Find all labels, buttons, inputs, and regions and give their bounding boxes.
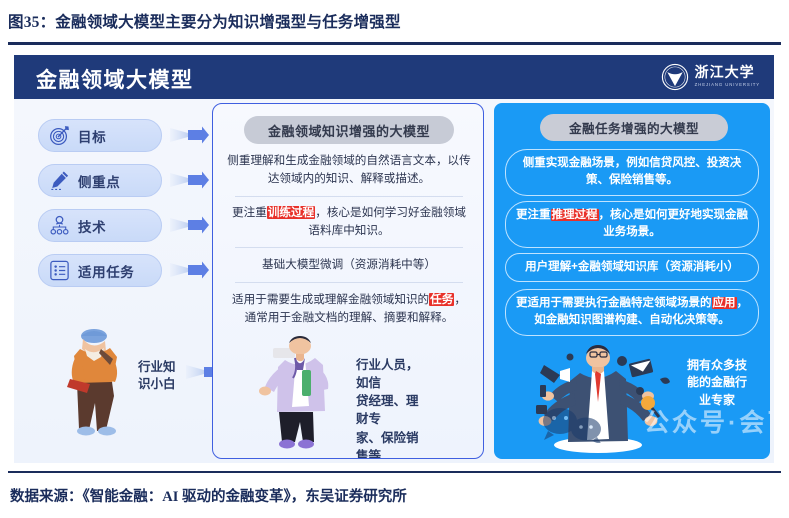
right-persona: 拥有众多技 能的金融行 业专家 (498, 341, 770, 459)
sidebar-item-goal-label: 目标 (78, 126, 106, 146)
right-item-3: 用户理解+金融领域知识库（资源消耗小） (505, 253, 759, 282)
university-logo: 浙江大学 ZHEJIANG UNIVERSITY (661, 61, 760, 93)
figure-caption: 图35：金融领域大模型主要分为知识增强型与任务增强型 (8, 10, 778, 40)
sidebar-item-technology-label: 技术 (78, 216, 106, 236)
wechat-bubbles-icon (540, 403, 610, 443)
zhejiang-university-emblem-icon (661, 63, 689, 91)
middle-column-title: 金融领域知识增强的大模型 (244, 116, 454, 144)
top-rule (8, 42, 781, 45)
sidebar-item-technology[interactable]: 技术 (38, 209, 162, 242)
middle-persona: 行业人员，如信 贷经理、理财专 家、保险销售等 (221, 332, 477, 454)
middle-column: 金融领域知识增强的大模型 侧重理解和生成金融领域的自然语言文本，以传达领域内的知… (212, 103, 484, 459)
middle-persona-label: 行业人员，如信 贷经理、理财专 家、保险销售等 (356, 356, 430, 459)
middle-item-2: 更注重训练过程，核心是如何学习好金融领域语料库中知识。 (227, 204, 471, 240)
logo-chinese-name: 浙江大学 (695, 67, 760, 81)
right-item-1: 侧重实现金融场景，例如信贷风控、投资决策、保险销售等。 (505, 149, 759, 196)
highlight-training-process: 训练过程 (267, 206, 315, 219)
middle-separator (235, 247, 463, 248)
middle-item-3: 基础大模型微调（资源消耗中等） (227, 256, 471, 274)
right-arrow-icon (170, 214, 210, 236)
right-item-4: 更适用于需要执行金融特定领域场景的应用，如金融知识图谱构建、自动化决策等。 (505, 289, 759, 336)
highlight-task: 任务 (429, 293, 454, 306)
finance-professional-illustration-icon (255, 334, 337, 450)
infographic-card: 金融领域大模型 浙江大学 ZHEJIANG UNIVERSITY (14, 55, 774, 463)
sidebar-item-focus-label: 侧重点 (78, 171, 120, 191)
right-column-title: 金融任务增强的大模型 (540, 114, 728, 141)
checklist-icon (48, 259, 71, 282)
content-band: 目标 侧重点 (14, 99, 774, 463)
card-header: 金融领域大模型 浙江大学 ZHEJIANG UNIVERSITY (14, 55, 774, 99)
network-people-icon (48, 214, 71, 237)
right-column: 金融任务增强的大模型 侧重实现金融场景，例如信贷风控、投资决策、保险销售等。 更… (494, 103, 770, 459)
right-item-2: 更注重推理过程，核心是如何更好地实现金融业务场景。 (505, 201, 759, 248)
left-persona-label: 行业知 识小白 (138, 359, 192, 393)
middle-separator (235, 282, 463, 283)
casual-person-illustration-icon (58, 327, 132, 437)
right-arrow-icon (170, 169, 210, 191)
pencil-icon (48, 169, 71, 192)
sidebar-item-focus[interactable]: 侧重点 (38, 164, 162, 197)
sidebar-item-goal[interactable]: 目标 (38, 119, 162, 152)
data-source: 数据来源：《智能金融：AI 驱动的金融变革》，东吴证券研究所 (10, 485, 710, 509)
figure-page: 图35：金融领域大模型主要分为知识增强型与任务增强型 金融领域大模型 浙江大学 … (0, 0, 789, 518)
sidebar-item-tasks-label: 适用任务 (78, 261, 134, 281)
card-title: 金融领域大模型 (36, 64, 194, 94)
middle-item-1: 侧重理解和生成金融领域的自然语言文本，以传达领域内的知识、解释或描述。 (227, 152, 471, 188)
right-arrow-icon (170, 259, 210, 281)
target-icon (48, 124, 71, 147)
sidebar-item-tasks[interactable]: 适用任务 (38, 254, 162, 287)
highlight-reasoning-process: 推理过程 (551, 209, 599, 221)
left-column: 目标 侧重点 (14, 99, 210, 463)
highlight-application: 应用 (712, 297, 737, 309)
logo-english-name: ZHEJIANG UNIVERSITY (695, 83, 760, 87)
middle-item-4: 适用于需要生成或理解金融领域知识的任务，通常用于金融文档的理解、摘要和解释。 (227, 291, 471, 327)
bottom-rule (8, 471, 781, 473)
right-persona-label: 拥有众多技 能的金融行 业专家 (686, 357, 748, 409)
middle-separator (235, 196, 463, 197)
right-arrow-icon (170, 124, 210, 146)
left-persona: 行业知 识小白 (30, 327, 210, 447)
